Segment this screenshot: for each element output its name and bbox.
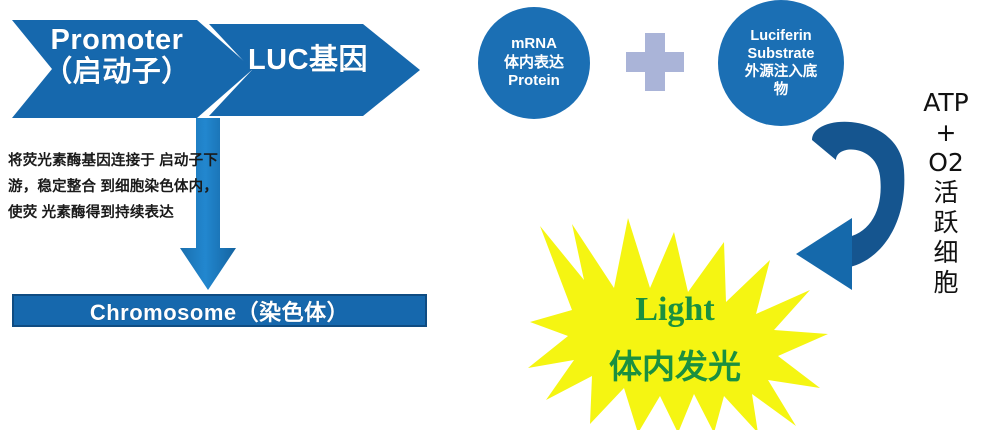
promoter-chevron-shape (12, 20, 253, 118)
cofactor-label: ATP + O2 活 跃 细 胞 (916, 88, 976, 298)
diagram-canvas: Promoter （启动子） LUC基因 将荧光素酶基因连接于 启动子下游，稳定… (0, 0, 1000, 430)
gene-construct-group: Promoter （启动子） LUC基因 (0, 0, 440, 130)
luciferin-substrate-label: Luciferin Substrate 外源注入底 物 (745, 27, 818, 100)
mrna-protein-bubble: mRNA 体内表达 Protein (478, 7, 590, 119)
chromosome-label: Chromosome（染色体） (14, 296, 425, 325)
plus-icon-vertical-bar (645, 33, 665, 91)
construct-description: 将荧光素酶基因连接于 启动子下游，稳定整合 到细胞染色体内，使荧 光素酶得到持续… (8, 148, 223, 226)
light-burst (528, 218, 828, 430)
light-burst-shape (528, 218, 828, 430)
chromosome-bar: Chromosome（染色体） (12, 294, 427, 327)
plus-icon (626, 33, 684, 91)
luciferin-substrate-bubble: Luciferin Substrate 外源注入底 物 (718, 0, 844, 126)
mrna-protein-label: mRNA 体内表达 Protein (504, 35, 564, 91)
